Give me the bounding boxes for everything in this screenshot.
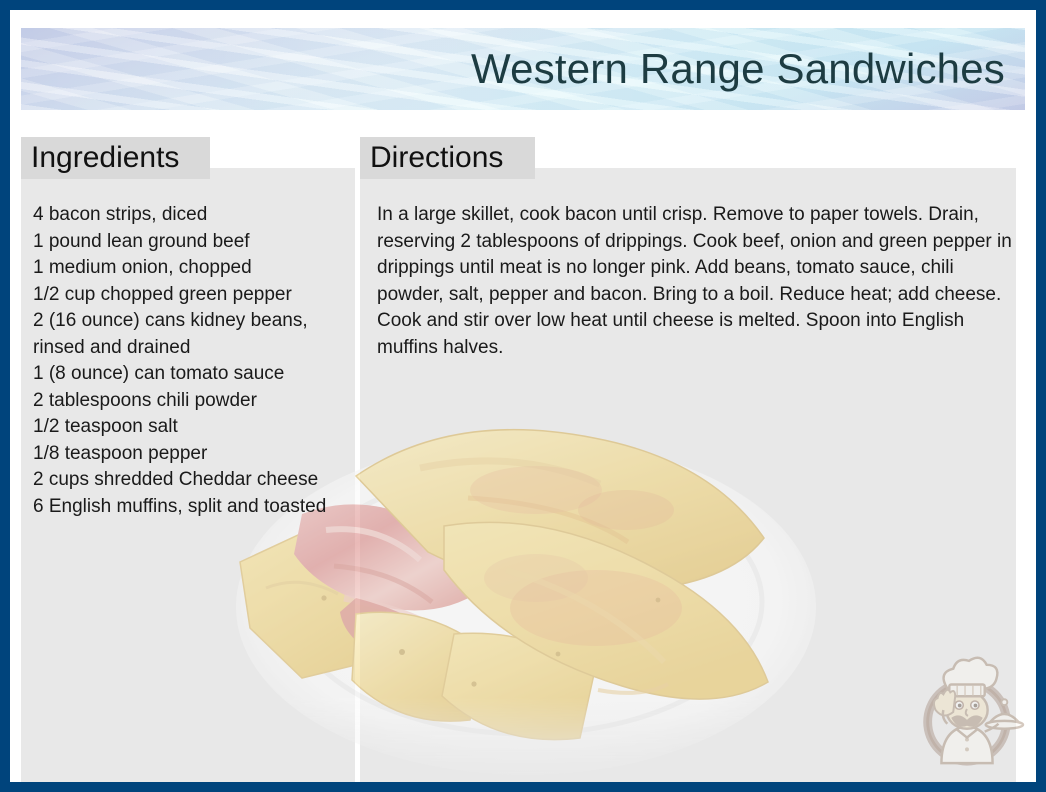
page-title: Western Range Sandwiches [471, 48, 1005, 90]
ingredients-list: 4 bacon strips, diced 1 pound lean groun… [33, 202, 363, 520]
section-heading-directions: Directions [360, 137, 535, 179]
section-heading-ingredients: Ingredients [21, 137, 210, 179]
slide-page: Western Range Sandwiches [10, 10, 1036, 782]
title-banner: Western Range Sandwiches [21, 28, 1025, 110]
chef-logo-icon [908, 653, 1026, 771]
recipe-slide: Western Range Sandwiches [0, 0, 1046, 792]
directions-text: In a large skillet, cook bacon until cri… [377, 202, 1019, 361]
